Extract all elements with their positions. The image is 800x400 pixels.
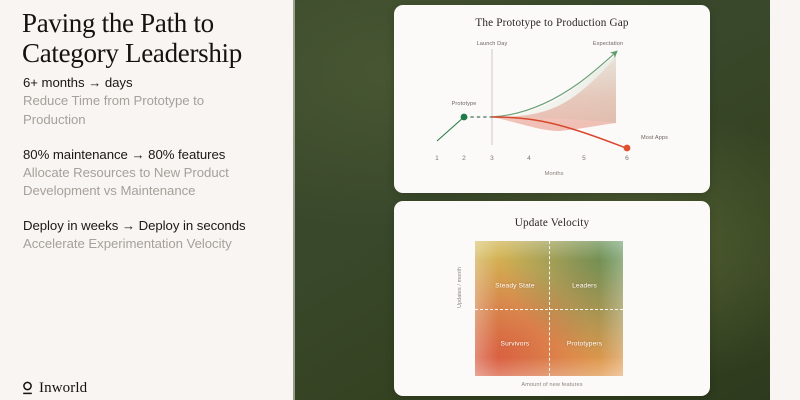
x-axis-label: Amount of new features — [394, 382, 710, 388]
quadrant-divider-horizontal — [475, 309, 623, 310]
x-tick: 4 — [527, 155, 531, 162]
y-axis-label: Updates / month — [457, 267, 463, 308]
bullet-subline: Production — [23, 111, 288, 129]
bullet-headline: 80% maintenance → 80% features — [23, 146, 288, 163]
chart-title: Update Velocity — [394, 217, 710, 229]
prototype-point-marker — [461, 114, 468, 121]
quadrant-label-leaders: Leaders — [572, 282, 597, 289]
slide-root: Paving the Path to Category Leadership 6… — [0, 0, 800, 400]
prototype-label: Prototype — [452, 101, 477, 107]
visual-stage: The Prototype to Production Gap — [293, 0, 785, 400]
page-title: Paving the Path to Category Leadership — [22, 8, 284, 68]
expectation-label: Expectation — [593, 41, 623, 47]
chart-title: The Prototype to Production Gap — [394, 17, 710, 29]
chart-card-prototype-gap: The Prototype to Production Gap — [394, 5, 710, 193]
launch-day-label: Launch Day — [477, 41, 508, 47]
stage-left-edge — [293, 0, 295, 400]
headline-line-2: Category Leadership — [22, 38, 284, 68]
bullet-item: 80% maintenance → 80% features Allocate … — [23, 146, 288, 201]
bullet-item: Deploy in weeks → Deploy in seconds Acce… — [23, 217, 288, 253]
prototype-gap-chart: Launch Day Expectation Prototype Most Ap… — [394, 5, 710, 193]
x-tick: 6 — [625, 155, 629, 162]
chart-card-update-velocity: Update Velocity Steady State Leaders Sur… — [394, 201, 710, 396]
x-tick: 2 — [462, 155, 466, 162]
bullet-item: 6+ months → days Reduce Time from Protot… — [23, 74, 288, 129]
x-tick: 3 — [490, 155, 494, 162]
bullet-headline: 6+ months → days — [23, 74, 288, 91]
bullet-subline: Accelerate Experimentation Velocity — [23, 235, 288, 253]
x-axis-label: Months — [544, 171, 563, 177]
left-text-panel: Paving the Path to Category Leadership 6… — [0, 0, 293, 400]
bullet-headline: Deploy in weeks → Deploy in seconds — [23, 217, 288, 234]
bullet-list: 6+ months → days Reduce Time from Protot… — [23, 74, 288, 270]
stage-right-strip — [770, 0, 785, 400]
bullet-subline: Development vs Maintenance — [23, 182, 288, 200]
quadrant-label-steady-state: Steady State — [495, 282, 535, 289]
gap-area-upper — [492, 55, 616, 123]
inworld-circle-mark-icon — [22, 381, 33, 396]
prototype-ramp-line — [437, 117, 464, 141]
most-apps-point-marker — [624, 145, 631, 152]
most-apps-label: Most Apps — [641, 135, 668, 141]
x-tick: 5 — [582, 155, 586, 162]
quadrant-label-prototypers: Prototypers — [567, 340, 602, 347]
brand-logo: Inworld — [22, 380, 87, 397]
headline-line-1: Paving the Path to — [22, 8, 284, 38]
bullet-subline: Reduce Time from Prototype to — [23, 92, 288, 110]
bullet-subline: Allocate Resources to New Product — [23, 164, 288, 182]
quadrant-label-survivors: Survivors — [501, 340, 530, 347]
x-tick: 1 — [435, 155, 439, 162]
quadrant-plot: Steady State Leaders Survivors Prototype… — [475, 241, 623, 376]
brand-wordmark: Inworld — [39, 380, 87, 397]
